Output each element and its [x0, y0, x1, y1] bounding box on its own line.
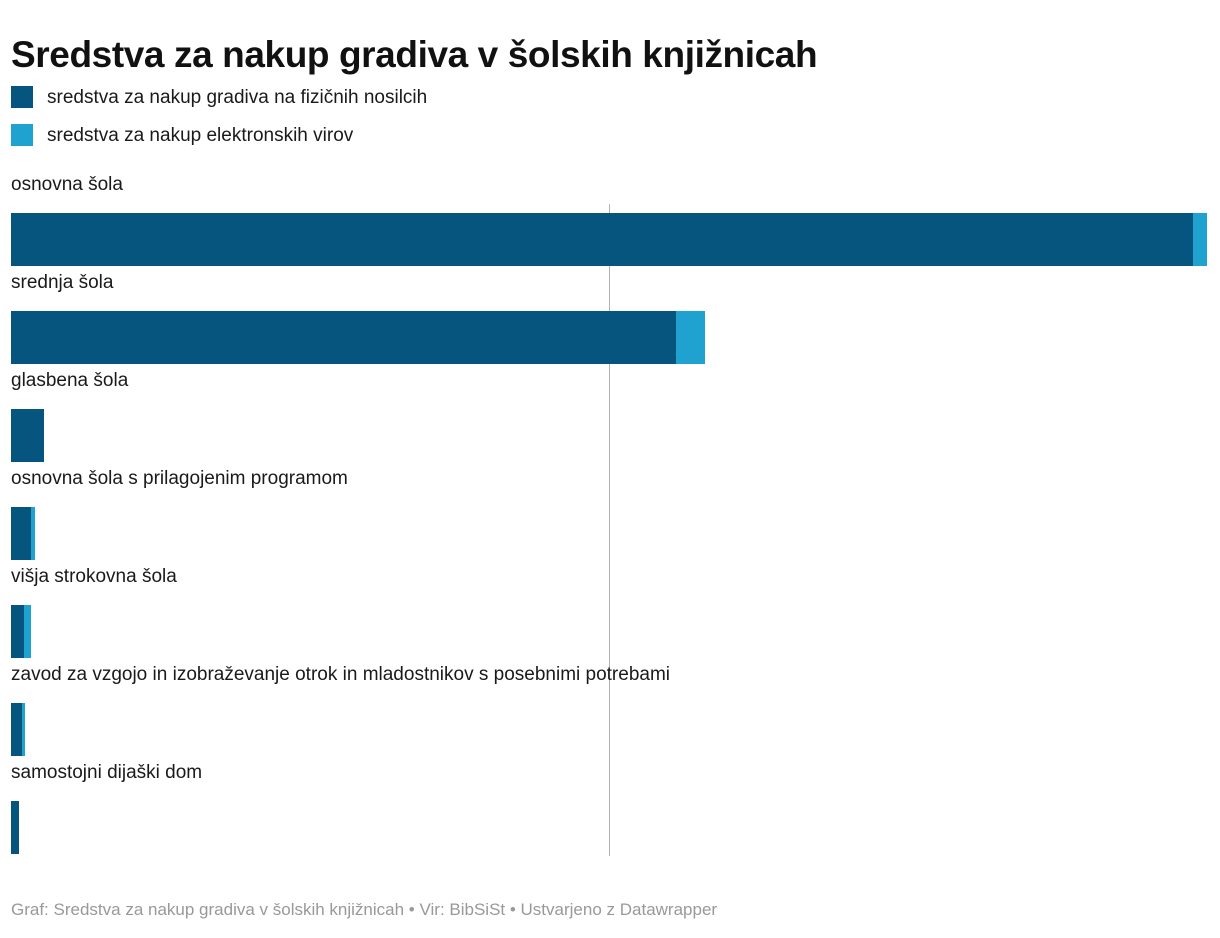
bar-category-label: samostojni dijaški dom [11, 760, 202, 786]
bar-track[interactable] [11, 409, 44, 462]
bar-row: osnovna šola [0, 172, 1220, 270]
bar-category-label: osnovna šola [11, 172, 123, 198]
bar-track[interactable] [11, 213, 1207, 266]
page-title: Sredstva za nakup gradiva v šolskih knji… [11, 35, 817, 76]
plot-area: osnovna šolasrednja šolaglasbena šolaosn… [0, 172, 1220, 862]
bar-category-label: zavod za vzgojo in izobraževanje otrok i… [11, 662, 670, 688]
bar-segment-physical[interactable] [11, 605, 24, 658]
bar-segment-electronic[interactable] [1193, 213, 1207, 266]
bar-segment-electronic[interactable] [676, 311, 705, 364]
chart-footer: Graf: Sredstva za nakup gradiva v šolski… [11, 900, 717, 920]
bar-segment-physical[interactable] [11, 507, 31, 560]
gridline-midpoint [609, 204, 610, 856]
bar-segment-physical[interactable] [11, 801, 19, 854]
bar-track[interactable] [11, 311, 705, 364]
chart-container: Sredstva za nakup gradiva v šolskih knji… [0, 0, 1220, 938]
bar-segment-physical[interactable] [11, 213, 1193, 266]
bar-track[interactable] [11, 507, 35, 560]
legend-item-electronic: sredstva za nakup elektronskih virov [11, 120, 1011, 150]
bar-track[interactable] [11, 605, 31, 658]
bar-track[interactable] [11, 703, 25, 756]
bar-segment-electronic[interactable] [22, 703, 26, 756]
legend-label-physical: sredstva za nakup gradiva na fizičnih no… [47, 88, 427, 107]
bar-segment-physical[interactable] [11, 311, 676, 364]
bar-segment-physical[interactable] [11, 703, 22, 756]
bar-category-label: srednja šola [11, 270, 113, 296]
legend-label-electronic: sredstva za nakup elektronskih virov [47, 126, 353, 145]
bar-category-label: višja strokovna šola [11, 564, 177, 590]
chart-legend: sredstva za nakup gradiva na fizičnih no… [11, 82, 1011, 158]
legend-swatch-icon-physical [11, 86, 33, 108]
bar-row: osnovna šola s prilagojenim programom [0, 466, 1220, 564]
bar-segment-physical[interactable] [11, 409, 44, 462]
legend-swatch-icon-electronic [11, 124, 33, 146]
bar-category-label: glasbena šola [11, 368, 128, 394]
bar-track[interactable] [11, 801, 19, 854]
bar-row: glasbena šola [0, 368, 1220, 466]
bar-row: zavod za vzgojo in izobraževanje otrok i… [0, 662, 1220, 760]
bar-segment-electronic[interactable] [24, 605, 31, 658]
bar-row: višja strokovna šola [0, 564, 1220, 662]
bar-row: srednja šola [0, 270, 1220, 368]
bar-segment-electronic[interactable] [31, 507, 35, 560]
bar-category-label: osnovna šola s prilagojenim programom [11, 466, 348, 492]
bar-row: samostojni dijaški dom [0, 760, 1220, 858]
legend-item-physical: sredstva za nakup gradiva na fizičnih no… [11, 82, 1011, 112]
